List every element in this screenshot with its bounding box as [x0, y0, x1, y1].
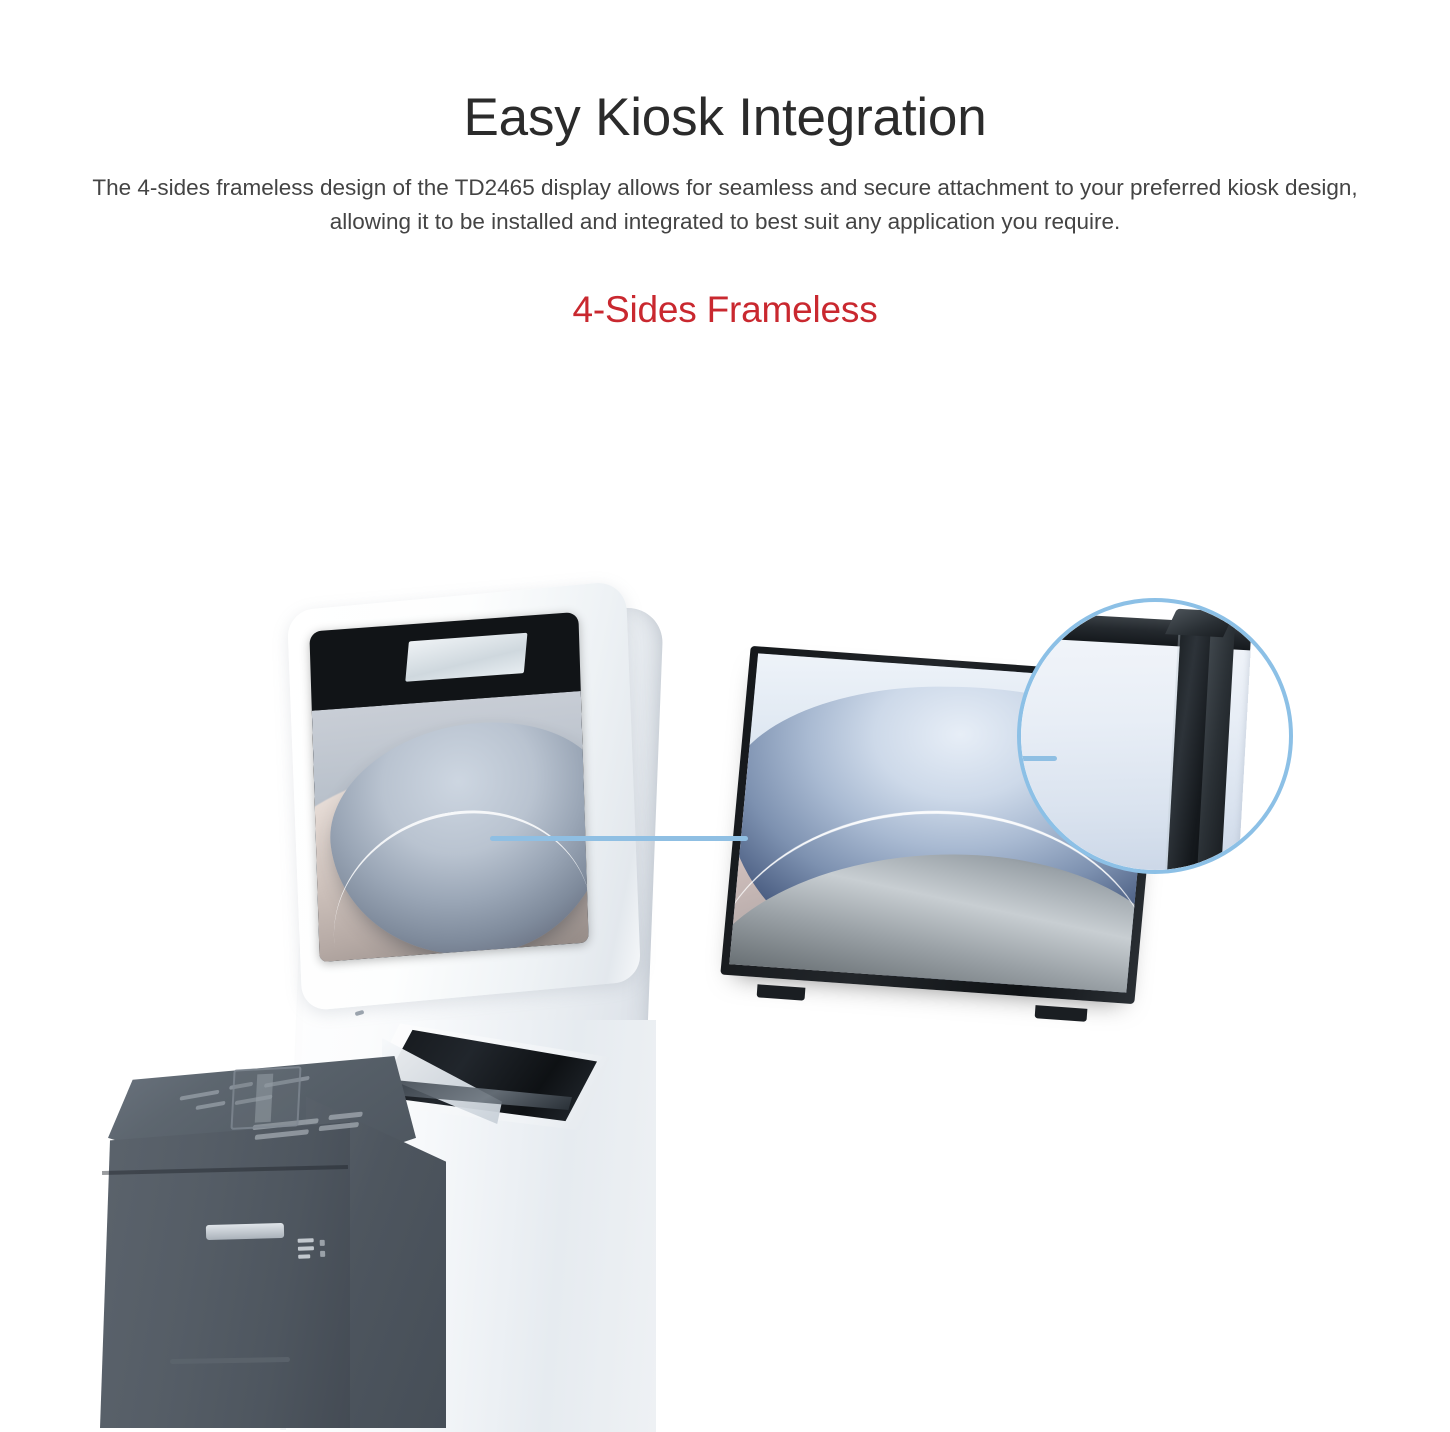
callout-magnified-view	[1021, 602, 1289, 870]
kiosk-screen-wallpaper	[312, 691, 589, 962]
monitor-foot-right	[1035, 1005, 1088, 1022]
kiosk-screen	[309, 612, 588, 962]
monitor-foot-left	[757, 984, 806, 1000]
kiosk-scanner-window	[405, 632, 527, 681]
kiosk-card-slot	[206, 1223, 284, 1240]
magnified-corner-cap	[1165, 609, 1235, 638]
kiosk-illustration	[100, 590, 740, 1430]
callout-connector-line	[490, 836, 748, 841]
kiosk-control-buttons	[298, 1237, 341, 1262]
product-illustration	[0, 0, 1450, 1430]
callout-magnifier-circle	[1017, 598, 1293, 874]
magnified-connector-stub	[1021, 756, 1057, 761]
kiosk-access-panel	[230, 1066, 301, 1130]
